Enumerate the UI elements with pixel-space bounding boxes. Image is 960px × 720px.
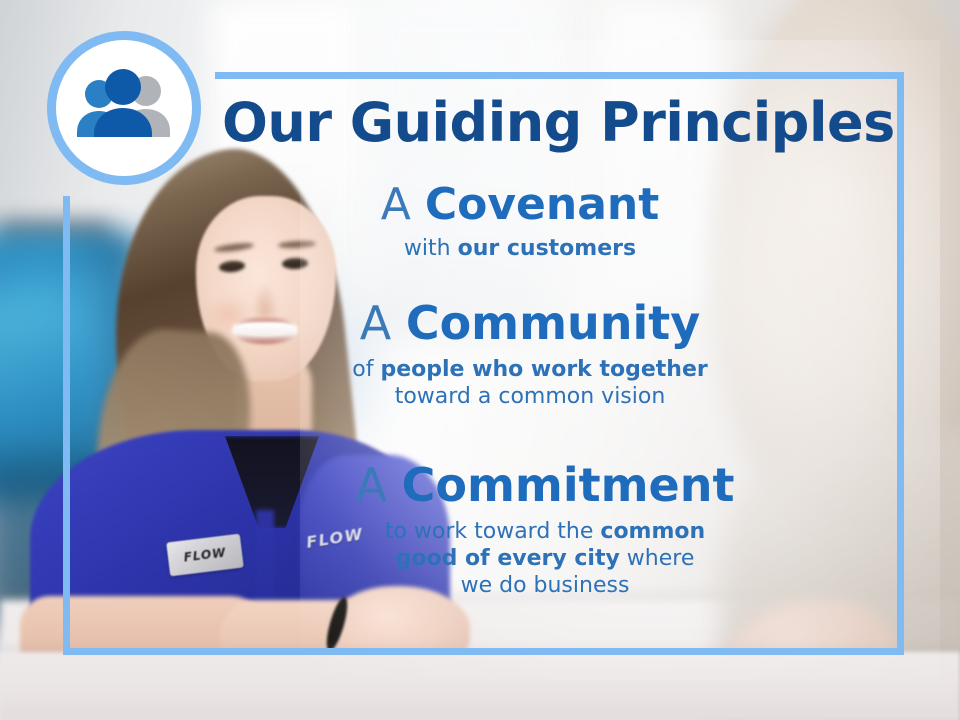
principle-keyword: Commitment [402,458,735,512]
principle-commitment: A Commitment to work toward the commongo… [220,462,870,599]
subtext-plain: where [620,546,695,571]
subtext-line: toward a common vision [210,384,850,411]
subtext-line: good of every city where [220,546,870,573]
principle-headline-community: A Community [210,300,850,347]
subtext-emphasis: common [600,519,705,544]
principle-keyword: Community [406,296,700,350]
principle-keyword: Covenant [425,179,659,230]
subtext-line: we do business [220,573,870,600]
subtext-line: of people who work together [210,357,850,384]
principle-subtext-commitment: to work toward the commongood of every c… [220,519,870,599]
principle-article: A [360,296,406,350]
subtext-line: to work toward the common [220,519,870,546]
principle-headline-commitment: A Commitment [220,462,870,509]
subtext-plain: of [352,357,380,382]
principle-article: A [381,179,425,230]
principle-headline-covenant: A Covenant [200,183,840,228]
subtext-plain: to work toward the [385,519,601,544]
subtext-emphasis: good of every city [396,546,620,571]
subtext-emphasis: our customers [458,236,637,261]
principle-article: A [356,458,402,512]
principle-subtext-covenant: with our customers [200,236,840,263]
guiding-principles-graphic: FLOW FLOW [0,0,960,720]
principle-community: A Community of people who work togethert… [210,300,850,411]
principle-subtext-community: of people who work togethertoward a comm… [210,357,850,411]
subtext-plain: we do business [461,573,630,598]
page-title: Our Guiding Principles [222,96,882,150]
text-content: Our Guiding Principles A Covenant with o… [0,0,960,720]
subtext-line: with our customers [200,236,840,263]
subtext-plain: with [404,236,458,261]
principle-covenant: A Covenant with our customers [200,183,840,263]
subtext-plain: toward a common vision [395,384,666,409]
subtext-emphasis: people who work together [380,357,707,382]
